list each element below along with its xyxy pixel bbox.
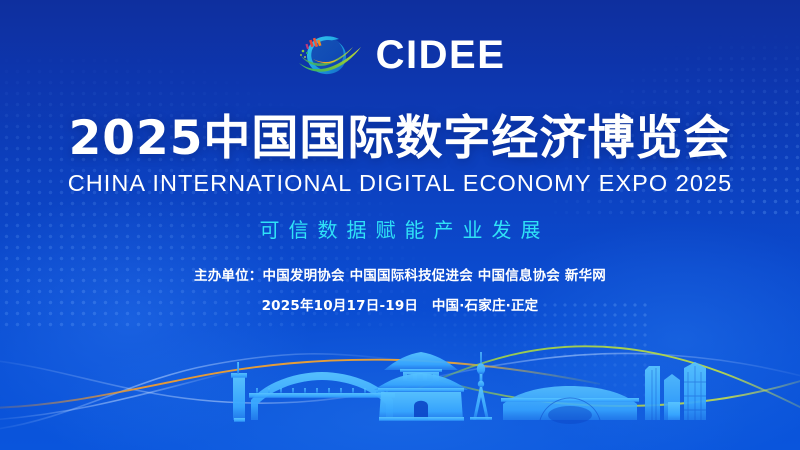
skyline-arch-bridge — [249, 372, 395, 420]
expo-title-chinese: 2025中国国际数字经济博览会 — [0, 112, 800, 166]
left-bar-lines — [10, 326, 200, 450]
organizers-line: 主办单位：中国发明协会 中国国际科技促进会 中国信息协会 新华网 — [0, 264, 800, 284]
skyline-tv-tower — [470, 352, 492, 420]
skyline-modern-highrise-cluster — [645, 362, 706, 420]
date-location-line: 2025年10月17日-19日 中国·石家庄·正定 — [0, 294, 800, 314]
cidee-swoosh-globe-logo — [295, 29, 363, 81]
skyline-stadium-dome — [501, 386, 639, 424]
expo-title-english: CHINA INTERNATIONAL DIGITAL ECONOMY EXPO… — [0, 170, 800, 197]
expo-poster: CIDEE 2025中国国际数字经济博览会 CHINA INTERNATIONA… — [0, 0, 800, 450]
logo-wordmark: CIDEE — [376, 35, 506, 75]
expo-slogan: 可信数据赋能产业发展 — [0, 214, 800, 243]
brand-logo-row: CIDEE — [0, 29, 800, 81]
